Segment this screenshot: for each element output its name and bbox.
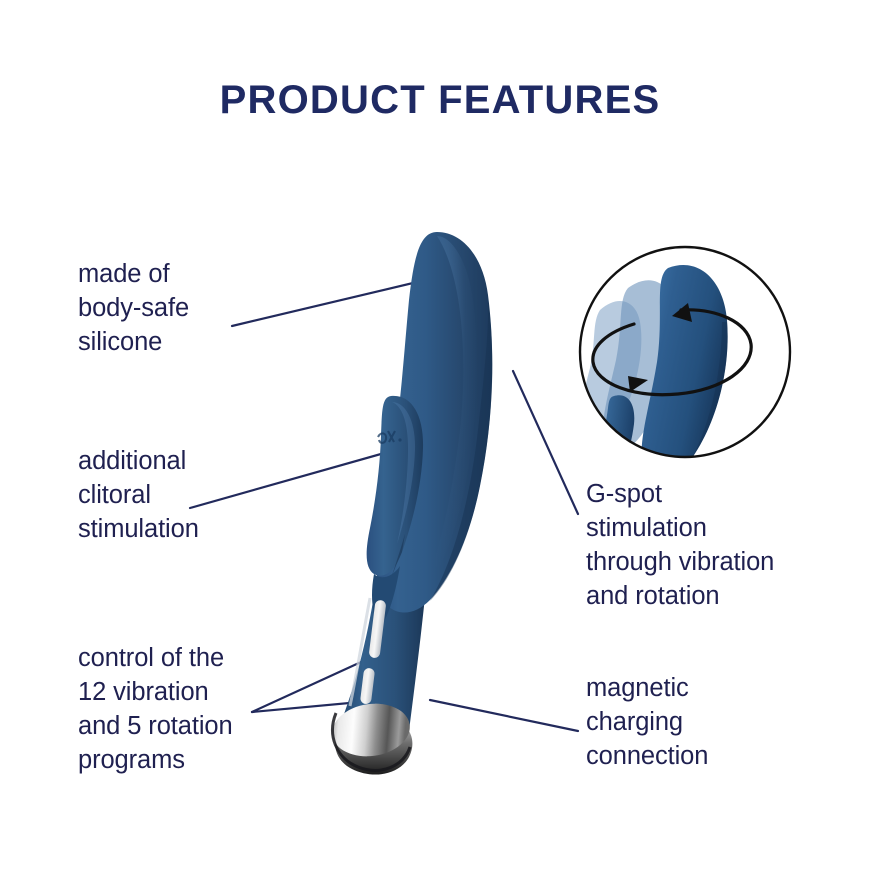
callout-made-of-body-safe-silicone: made of body-safe silicone [78,258,308,360]
control-buttons[interactable] [350,598,386,706]
main-shaft [377,232,492,613]
rotation-detail-circle [580,247,790,480]
rotation-detail-ring [580,247,790,457]
rotation-arrowhead-left [628,376,648,392]
rotation-small-lobe [600,395,634,480]
main-shaft-highlight [424,236,477,592]
clitoral-arm-highlight [392,402,415,544]
body-valley-shadow [383,534,405,600]
arm-handle-junction [372,566,400,628]
leader-line-magnetic [430,700,578,731]
rotation-main-tip-shade [692,322,728,458]
control-button-upper[interactable] [369,600,387,659]
brand-logo-mark [378,431,402,443]
callout-magnetic-charging-connection: magnetic charging connection [586,672,836,774]
page-title: PRODUCT FEATURES [0,78,880,122]
callout-control-of-vibration-and-rotation-programs: control of the 12 vibration and 5 rotati… [78,642,328,778]
control-button-lower[interactable] [360,668,375,705]
handle [341,557,428,741]
product-features-infographic: PRODUCT FEATURES [0,0,880,880]
leader-line-gspot [513,371,578,514]
rotation-ghost-far [580,301,641,444]
clitoral-arm [367,396,423,576]
callout-g-spot-stimulation: G-spot stimulation through vibration and… [586,478,856,614]
button-recess-outline [350,598,370,706]
callout-additional-clitoral-stimulation: additional clitoral stimulation [78,445,318,547]
chrome-base-cap [329,699,413,775]
main-shaft-edge-shade [430,300,492,601]
rotation-arrow-icon [593,310,751,395]
rotation-main-tip [642,265,728,480]
rotation-ghost-near [603,280,674,451]
product-body [329,232,493,775]
rotation-arrowhead-right [672,303,692,322]
